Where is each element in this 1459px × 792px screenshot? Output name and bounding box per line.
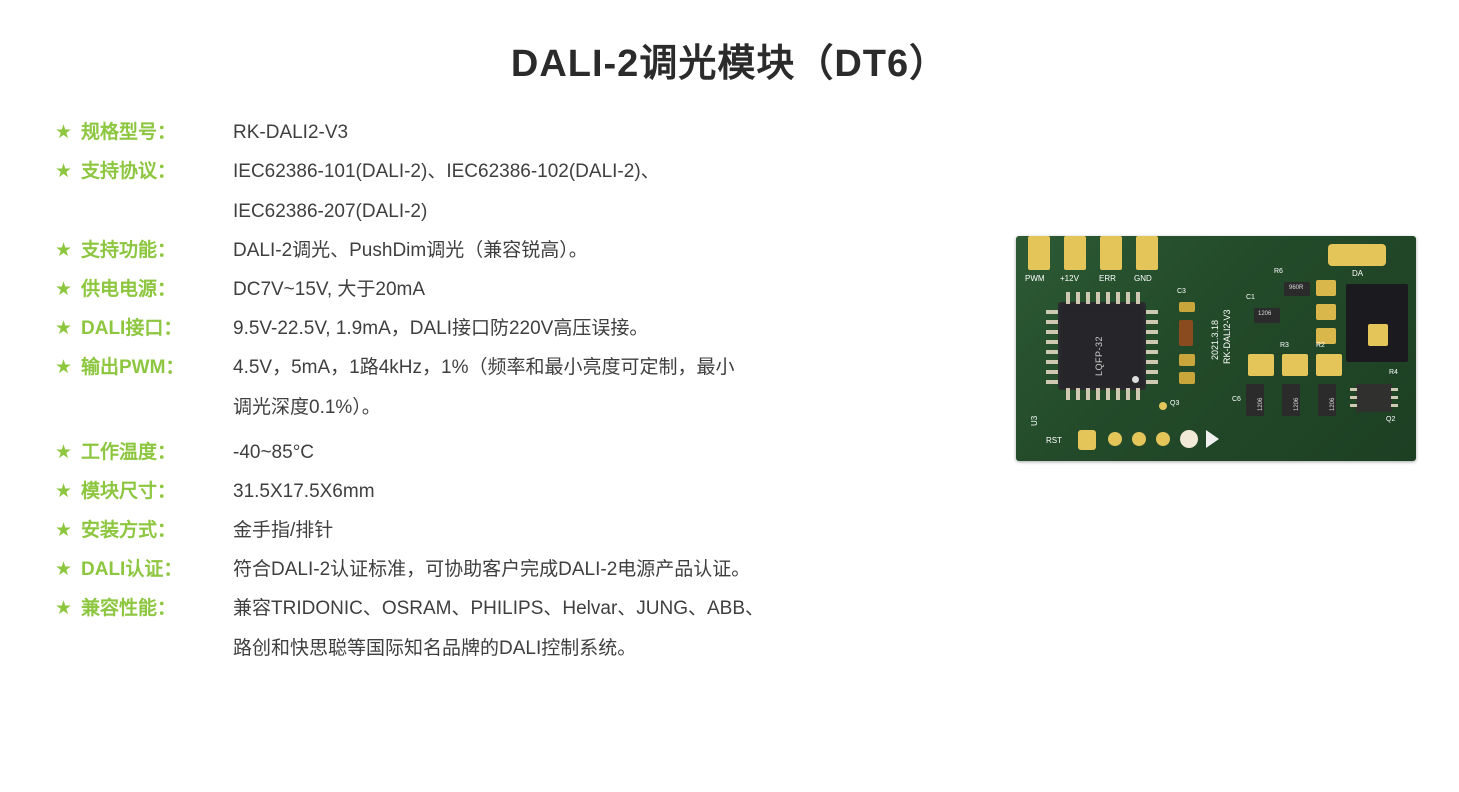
spec-label: 输出PWM：	[81, 353, 233, 383]
star-icon: ★	[55, 477, 81, 507]
list-item: ★ 供电电源： DC7V~15V, 大于20mA	[55, 275, 955, 305]
list-item: ★ 工作温度： -40~85°C	[55, 438, 955, 468]
smd-pad	[1179, 372, 1195, 384]
edge-pad-da	[1328, 244, 1386, 266]
part-code: 960R	[1289, 285, 1303, 291]
list-item: ★ 规格型号： RK-DALI2-V3	[55, 118, 955, 148]
star-icon: ★	[55, 353, 81, 383]
silk-label-err: ERR	[1099, 274, 1116, 283]
component-q3	[1346, 284, 1408, 362]
star-icon: ★	[55, 314, 81, 344]
smd-resistor	[1179, 320, 1193, 346]
spec-label: 模块尺寸：	[81, 477, 233, 507]
star-icon: ★	[55, 555, 81, 585]
ic-pin	[1146, 360, 1158, 364]
ic-pin	[1066, 292, 1070, 304]
spec-value: 4.5V，5mA，1路4kHz，1%（频率和最小亮度可定制，最小 调光深度0.1…	[233, 353, 955, 423]
spec-value-line: 路创和快思聪等国际知名品牌的DALI控制系统。	[233, 634, 955, 664]
pcb-body: PWM +12V ERR GND DA LQFP-32	[1016, 236, 1416, 461]
spec-label: 工作温度：	[81, 438, 233, 468]
specification-list: ★ 规格型号： RK-DALI2-V3 ★ 支持协议： IEC62386-101…	[55, 118, 955, 673]
silk-label-da: DA	[1352, 269, 1363, 278]
silk-label-rst: RST	[1046, 436, 1062, 445]
list-item: ★ 支持协议： IEC62386-101(DALI-2)、IEC62386-10…	[55, 157, 955, 227]
spec-label: DALI认证：	[81, 555, 233, 585]
part-code: 1206	[1294, 398, 1300, 411]
star-icon: ★	[55, 275, 81, 305]
smd-component: 960R	[1284, 282, 1310, 296]
ic-pin	[1350, 388, 1357, 391]
smd-pad	[1248, 354, 1274, 376]
silk-ref-c6: Q3	[1170, 400, 1179, 407]
spec-value: RK-DALI2-V3	[233, 118, 955, 148]
ic-pin	[1086, 292, 1090, 304]
edge-pad	[1064, 236, 1086, 270]
star-icon: ★	[55, 438, 81, 468]
component-q2	[1356, 384, 1392, 412]
ic-pin	[1146, 330, 1158, 334]
smd-capacitor: 1206	[1254, 308, 1280, 323]
test-pad	[1180, 430, 1198, 448]
list-item: ★ 输出PWM： 4.5V，5mA，1路4kHz，1%（频率和最小亮度可定制，最…	[55, 353, 955, 423]
ic-pin	[1046, 310, 1058, 314]
spec-value-line: 9.5V-22.5V, 1.9mA，DALI接口防220V高压误接。	[233, 314, 955, 344]
spec-value: DALI-2调光、PushDim调光（兼容锐高）。	[233, 236, 955, 266]
smd-pad	[1179, 302, 1195, 312]
spec-value-line: 金手指/排针	[233, 516, 955, 546]
spec-value-line: 调光深度0.1%）。	[233, 393, 955, 423]
silk-ref-r3: R3	[1280, 342, 1289, 349]
ic-pin	[1046, 380, 1058, 384]
silk-board-date: 2021.3.18	[1210, 320, 1220, 360]
ic-pin	[1350, 396, 1357, 399]
edge-pad	[1028, 236, 1050, 270]
ic-pin	[1146, 380, 1158, 384]
edge-pad	[1100, 236, 1122, 270]
ic-pin	[1066, 388, 1070, 400]
silk-board-name: RK-DALI2-V3	[1222, 309, 1232, 364]
ic-pin	[1106, 388, 1110, 400]
polarity-marker-icon	[1206, 430, 1219, 448]
spec-value-line: RK-DALI2-V3	[233, 118, 955, 148]
ic-pin	[1096, 388, 1100, 400]
smd-pad	[1282, 354, 1308, 376]
spec-label: 供电电源：	[81, 275, 233, 305]
spec-value-line: 4.5V，5mA，1路4kHz，1%（频率和最小亮度可定制，最小	[233, 353, 955, 383]
silk-ref-q3: R4	[1389, 369, 1398, 376]
spec-label: 规格型号：	[81, 118, 233, 148]
ic-pin	[1146, 350, 1158, 354]
ic-pin	[1136, 292, 1140, 304]
spec-label: 安装方式：	[81, 516, 233, 546]
smd-resistor: 1206	[1318, 384, 1336, 416]
silk-ref-r2: R2	[1316, 342, 1325, 349]
test-pad	[1108, 432, 1122, 446]
spec-value: 31.5X17.5X6mm	[233, 477, 955, 507]
ic-pin	[1146, 370, 1158, 374]
star-icon: ★	[55, 236, 81, 266]
ic-pin	[1116, 388, 1120, 400]
test-pad	[1156, 432, 1170, 446]
star-icon: ★	[55, 516, 81, 546]
spec-label: DALI接口：	[81, 314, 233, 344]
silk-label-12v: +12V	[1060, 274, 1079, 283]
ic-pin	[1096, 292, 1100, 304]
spec-label: 兼容性能：	[81, 594, 233, 624]
product-image-pcb-module: PWM +12V ERR GND DA LQFP-32	[1016, 236, 1416, 461]
silk-ref-r4: C6	[1232, 396, 1241, 403]
ic-pin	[1350, 404, 1357, 407]
spec-label: 支持功能：	[81, 236, 233, 266]
ic-pin1-dot	[1132, 376, 1139, 383]
star-icon: ★	[55, 157, 81, 187]
part-code: 1206	[1258, 398, 1264, 411]
page-title: DALI-2调光模块（DT6）	[0, 32, 1459, 87]
spec-value-line: 符合DALI-2认证标准，可协助客户完成DALI-2电源产品认证。	[233, 555, 955, 585]
spec-value: DC7V~15V, 大于20mA	[233, 275, 955, 305]
spec-value-line: DALI-2调光、PushDim调光（兼容锐高）。	[233, 236, 955, 266]
ic-pin	[1146, 310, 1158, 314]
list-item: ★ 模块尺寸： 31.5X17.5X6mm	[55, 477, 955, 507]
ic-label: LQFP-32	[1094, 336, 1104, 376]
spec-value: IEC62386-101(DALI-2)、IEC62386-102(DALI-2…	[233, 157, 955, 227]
part-code: 1206	[1330, 398, 1336, 411]
smd-resistor: 1206	[1246, 384, 1264, 416]
star-icon: ★	[55, 594, 81, 624]
test-pad	[1078, 430, 1096, 450]
via-pad	[1159, 402, 1167, 410]
spec-value-line: IEC62386-207(DALI-2)	[233, 197, 955, 227]
silk-ref-r6: R6	[1274, 268, 1283, 275]
star-icon: ★	[55, 118, 81, 148]
spec-value: 符合DALI-2认证标准，可协助客户完成DALI-2电源产品认证。	[233, 555, 955, 585]
list-item: ★ 安装方式： 金手指/排针	[55, 516, 955, 546]
spec-value: 金手指/排针	[233, 516, 955, 546]
list-item: ★ DALI认证： 符合DALI-2认证标准，可协助客户完成DALI-2电源产品…	[55, 555, 955, 585]
spec-value-line: IEC62386-101(DALI-2)、IEC62386-102(DALI-2…	[233, 157, 955, 187]
ic-pin	[1046, 370, 1058, 374]
spec-value: -40~85°C	[233, 438, 955, 468]
smd-resistor: 1206	[1282, 384, 1300, 416]
smd-pad	[1179, 354, 1195, 366]
spec-value: 9.5V-22.5V, 1.9mA，DALI接口防220V高压误接。	[233, 314, 955, 344]
silk-label-gnd: GND	[1134, 274, 1152, 283]
part-code: 1206	[1258, 311, 1271, 317]
ic-pin	[1046, 330, 1058, 334]
spec-value-line: -40~85°C	[233, 438, 955, 468]
ic-pin	[1076, 292, 1080, 304]
ic-pin	[1146, 340, 1158, 344]
ic-pin	[1116, 292, 1120, 304]
list-item: ★ 兼容性能： 兼容TRIDONIC、OSRAM、PHILIPS、Helvar、…	[55, 594, 955, 664]
silk-ref-c1: C1	[1246, 294, 1255, 301]
ic-pin	[1391, 388, 1398, 391]
list-item: ★ DALI接口： 9.5V-22.5V, 1.9mA，DALI接口防220V高…	[55, 314, 955, 344]
ic-pin	[1136, 388, 1140, 400]
ic-pin	[1391, 404, 1398, 407]
list-item: ★ 支持功能： DALI-2调光、PushDim调光（兼容锐高）。	[55, 236, 955, 266]
edge-pad	[1136, 236, 1158, 270]
ic-pin	[1046, 320, 1058, 324]
smd-pad	[1316, 280, 1336, 296]
ic-pin	[1146, 320, 1158, 324]
ic-pin	[1046, 360, 1058, 364]
ic-pin	[1086, 388, 1090, 400]
silk-ref-q2: Q2	[1386, 416, 1395, 423]
ic-pin	[1126, 388, 1130, 400]
smd-pad	[1316, 354, 1342, 376]
ic-pin	[1106, 292, 1110, 304]
silk-label-pwm: PWM	[1025, 274, 1045, 283]
ic-pin	[1076, 388, 1080, 400]
spec-value-line: 兼容TRIDONIC、OSRAM、PHILIPS、Helvar、JUNG、ABB…	[233, 594, 955, 624]
ic-pin	[1391, 396, 1398, 399]
test-pad	[1132, 432, 1146, 446]
ic-pin	[1046, 340, 1058, 344]
smd-pad	[1316, 304, 1336, 320]
silk-ref-c3: C3	[1177, 288, 1186, 295]
ic-pin	[1046, 350, 1058, 354]
spec-label: 支持协议：	[81, 157, 233, 187]
spec-value-line: 31.5X17.5X6mm	[233, 477, 955, 507]
spec-value-line: DC7V~15V, 大于20mA	[233, 275, 955, 305]
ic-pin	[1126, 292, 1130, 304]
silk-label-u3: U3	[1030, 416, 1039, 426]
spec-value: 兼容TRIDONIC、OSRAM、PHILIPS、Helvar、JUNG、ABB…	[233, 594, 955, 664]
q3-pad	[1368, 324, 1388, 346]
